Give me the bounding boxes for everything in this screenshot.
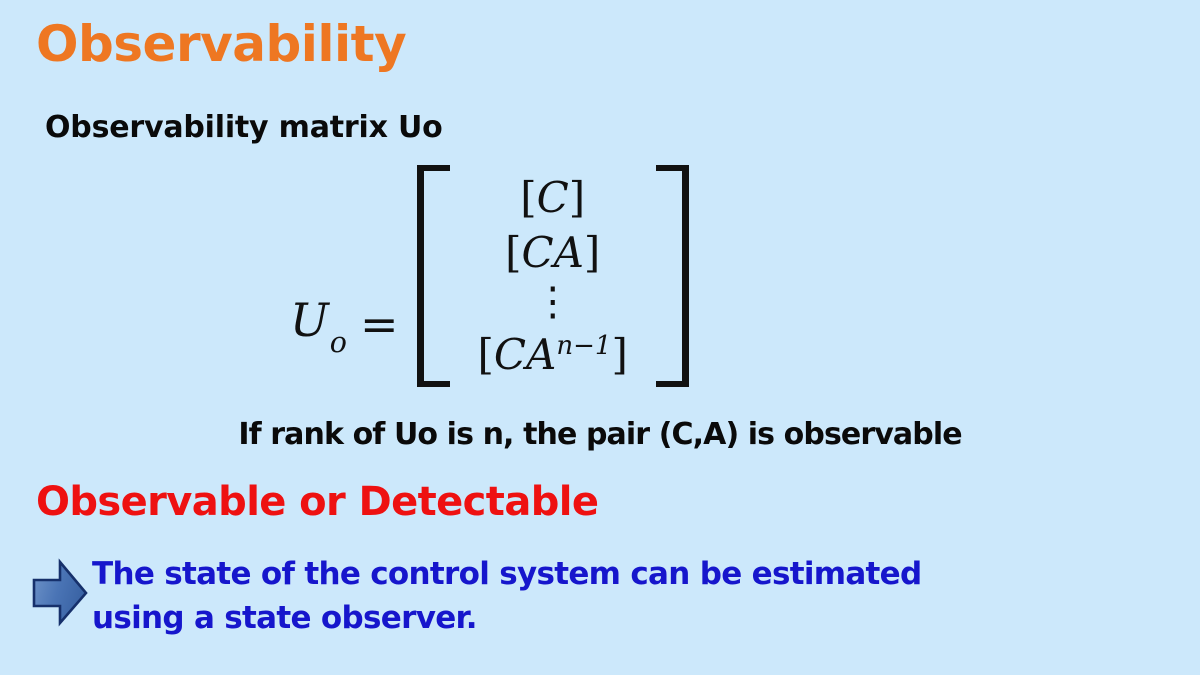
row-open-bracket: [ [505,228,521,277]
vertical-dots-icon: ⋮ [533,279,573,325]
bullet-text: The state of the control system can be e… [92,552,922,640]
matrix-bracket-left-icon [417,165,450,387]
row-close-bracket: ] [584,228,600,277]
observability-matrix-equation: Uo = [C] [CA] ⋮ [CAn−1] [290,165,689,387]
matrix-row-vertical-dots: ⋮ [533,280,573,328]
bullet-block: The state of the control system can be e… [28,552,922,640]
row-open-bracket: [ [520,173,536,222]
equation-relation-sign: = [360,301,417,347]
right-arrow-icon [28,556,90,628]
row-body: CA [521,228,583,277]
matrix-caption: Observability matrix Uo [45,110,443,145]
section-heading: Observable or Detectable [36,479,598,525]
row-body: CA [494,330,556,379]
row-close-bracket: ] [612,330,628,379]
row-close-bracket: ] [569,173,585,222]
rank-statement: If rank of Uo is n, the pair (C,A) is ob… [0,417,1200,452]
row-open-bracket: [ [478,330,494,379]
matrix-row: [C] [520,171,585,226]
slide-canvas: Observability Observability matrix Uo Uo… [0,0,1200,675]
page-title: Observability [36,18,406,71]
equation-lhs: Uo [290,297,360,352]
matrix-rows: [C] [CA] ⋮ [CAn−1] [452,165,654,387]
matrix-row: [CA] [505,226,600,281]
row-body: C [537,173,569,222]
equation-lhs-symbol: U [290,293,329,347]
bullet-line: The state of the control system can be e… [92,552,922,596]
row-exponent: n−1 [556,331,611,361]
matrix-bracket-right-icon [656,165,689,387]
bullet-line: using a state observer. [92,596,922,640]
equation-lhs-subscript: o [330,326,347,359]
matrix-row: [CAn−1] [478,328,628,383]
